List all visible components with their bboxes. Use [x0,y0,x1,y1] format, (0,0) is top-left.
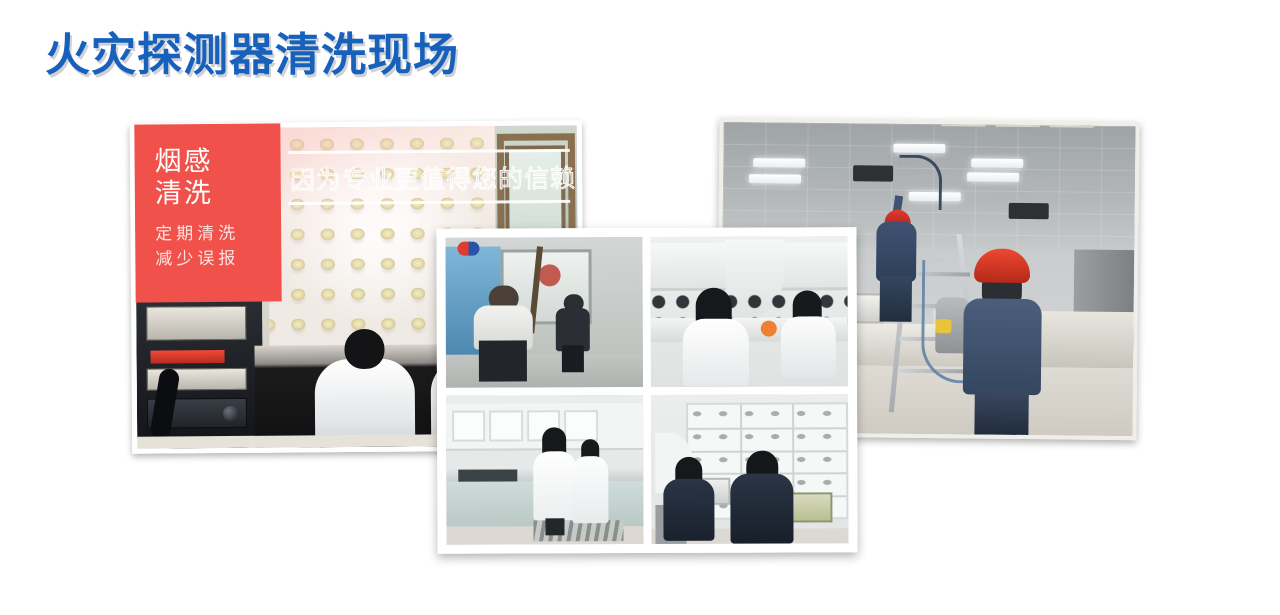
console-screen-3 [1050,122,1094,128]
collage-grid [441,232,852,548]
slide-canvas: 火灾探测器清洗现场 [0,0,1280,615]
collage-cell-bench-testing [650,236,848,386]
banner-slogan: 因为专业更值得您的信赖 [288,147,570,207]
photo-collage-four-lab-scenes [436,227,857,553]
slogan-rule-top [288,149,570,154]
ceiling-vent-1 [853,165,893,181]
worker-on-ladder [872,192,919,312]
head-left [344,329,384,369]
console-screen-1 [942,122,986,127]
white-coat-right [781,316,836,377]
red-safety-helmet [974,248,1030,283]
badge-sub-line1: 定期清洗 [155,221,281,247]
badge-sub-line2: 减少误报 [155,247,281,273]
white-coat-left [682,319,749,386]
yellow-tool [935,319,951,333]
cabinet-door-2 [489,410,523,442]
worker-body-lower [963,298,1042,395]
worker-in-dark-uniform [556,294,590,372]
technician-left [310,329,419,448]
ceiling-lamp-3 [893,144,945,154]
cabinet-door-1 [452,410,486,442]
technician-woman-right [781,290,836,377]
worker-legs-upper [880,276,912,322]
worker-with-red-helmet [958,248,1044,435]
badge-heading-line2: 清洗 [155,177,281,210]
worker-body-upper [876,222,917,282]
operator-left [663,457,715,541]
ceiling-lamp-1 [753,158,805,168]
collage-cell-sink-cleaning [446,395,644,545]
page-title: 火灾探测器清洗现场 [45,32,459,77]
inspector-trousers [479,341,526,381]
badge-subtext: 定期清洗 减少误报 [155,221,281,273]
ceiling-lamp-2 [749,174,801,184]
badge-heading: 烟感 清洗 [154,145,280,210]
slogan-text: 因为专业更值得您的信赖 [290,159,576,197]
ceiling-lamp-4 [971,158,1023,168]
collage-cell-inspection-corridor [445,237,643,387]
operator-right [730,451,793,544]
rack-knob-1 [223,406,238,421]
wall-emblem-icon [538,264,560,286]
operator-right-uniform [730,473,793,544]
badge-heading-line1: 烟感 [154,145,280,178]
legs-front [545,518,564,535]
smoke-detector-cleaning-badge: 烟感 清洗 定期清洗 减少误报 [134,123,281,302]
white-coat-back [572,456,608,523]
equipment-rack [136,298,270,439]
operator-left-uniform [663,479,714,541]
console-screen-2 [996,122,1040,127]
cleaner-woman-front [533,428,577,536]
ceiling-lamp-5 [967,172,1019,182]
worker-trousers [561,345,584,372]
orange-part-icon [761,320,777,336]
rack-red-stripe [150,350,224,364]
rack-panel-top [146,306,246,341]
cleaner-woman-back [572,439,608,523]
slogan-rule-bottom [288,200,570,205]
collage-cell-shelf-calibration [651,394,849,544]
wall-logo-icon [457,242,479,256]
technician-woman-left [682,287,749,386]
worker-legs-lower [974,388,1028,435]
white-coat-front [533,451,577,520]
ceiling-vent-2 [1009,203,1049,219]
inspector-in-white-shirt [473,285,532,381]
